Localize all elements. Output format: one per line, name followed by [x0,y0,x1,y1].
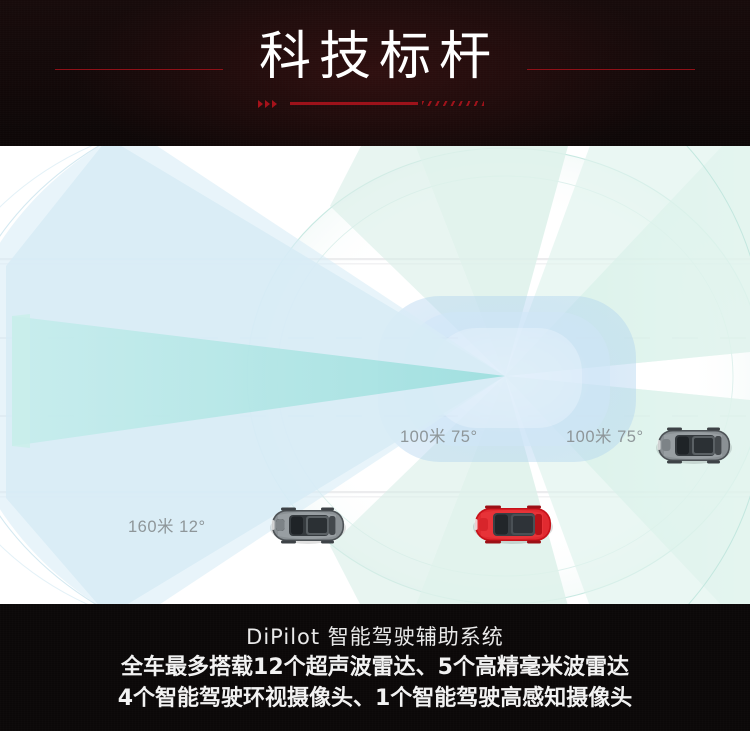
label-front-right-corner: 100米 75° [566,423,644,447]
coverage-graphic [0,146,750,604]
triangle-icon [258,100,263,108]
label-front-long-range: 160米 12° [128,513,206,537]
decoration-bar [290,102,418,105]
sensor-coverage-diagram: 160米 12° 120米 50° 100米 75° 100米 75° 100米… [0,146,750,604]
decoration-hatch [422,101,484,106]
footer-caption: DiPilot 智能驾驶辅助系统 全车最多搭载12个超声波雷达、5个高精毫米波雷… [0,604,750,731]
triangle-icon [265,100,270,108]
header-decoration [258,98,498,110]
page-title: 科技标杆 [0,26,750,88]
spec-line-1: 全车最多搭载12个超声波雷达、5个高精毫米波雷达 [0,652,750,683]
label-front-left-corner: 100米 75° [400,423,478,447]
triangle-icon [272,100,277,108]
page-root: 科技标杆 [0,0,750,731]
header-banner: 科技标杆 [0,0,750,146]
spec-line-2: 4个智能驾驶环视摄像头、1个智能驾驶高感知摄像头 [0,683,750,714]
system-name: DiPilot 智能驾驶辅助系统 [0,622,750,652]
